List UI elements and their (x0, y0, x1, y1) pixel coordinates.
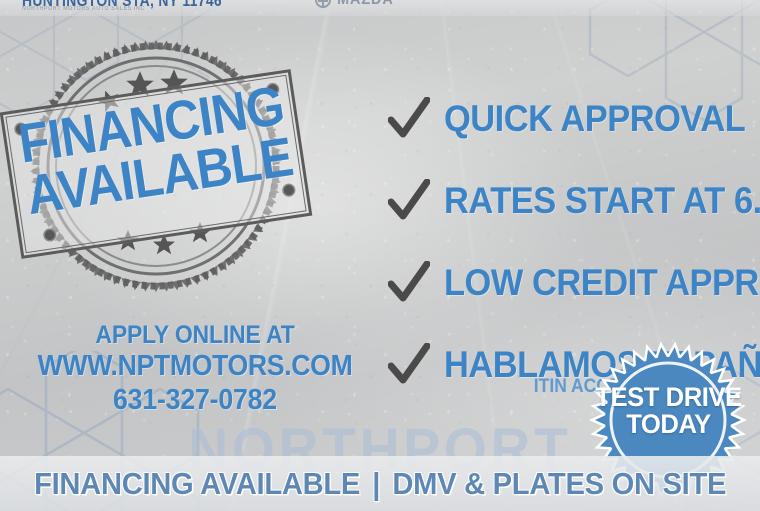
feature-item-low-credit: LOW CREDIT APPROVED (388, 242, 758, 324)
check-icon (388, 261, 430, 305)
feature-item-quick-approval: QUICK APPROVAL (388, 78, 758, 160)
bottom-banner-bar: FINANCING AVAILABLE | DMV & PLATES ON SI… (0, 456, 760, 511)
dealer-address-subtitle: NORTHPORT MOTORS AUTO SALES INC (22, 6, 145, 12)
ad-canvas: HUNTINGTON STA, NY 11746 NORTHPORT MOTOR… (0, 0, 760, 511)
bottom-banner-content: FINANCING AVAILABLE | DMV & PLATES ON SI… (34, 466, 726, 502)
check-icon (388, 97, 430, 141)
apply-online-block: APPLY ONLINE AT WWW.NPTMOTORS.COM 631-32… (10, 322, 380, 415)
check-icon (388, 343, 430, 387)
feature-label: QUICK APPROVAL (444, 98, 745, 140)
phone-number[interactable]: 631-327-0782 (25, 385, 365, 415)
feature-label: LOW CREDIT APPROVED (444, 262, 760, 304)
mazda-roundel-icon (315, 0, 331, 8)
bottom-banner-separator: | (372, 466, 380, 502)
check-icon (388, 179, 430, 223)
brand-logo-wordmark: MAZDA (337, 0, 393, 9)
header-bar: HUNTINGTON STA, NY 11746 NORTHPORT MOTOR… (0, 0, 760, 16)
feature-label: RATES START AT 6.2% (444, 180, 760, 222)
feature-item-rates: RATES START AT 6.2% (388, 160, 758, 242)
bottom-banner-financing-text: FINANCING AVAILABLE (34, 466, 360, 502)
website-url[interactable]: WWW.NPTMOTORS.COM (25, 351, 365, 381)
financing-available-stamp: FINANCING AVAILABLE (6, 28, 306, 303)
apply-online-label: APPLY ONLINE AT (25, 322, 365, 348)
bottom-banner-dmv-text: DMV & PLATES ON SITE (392, 466, 726, 502)
brand-logo: MAZDA (315, 0, 397, 9)
